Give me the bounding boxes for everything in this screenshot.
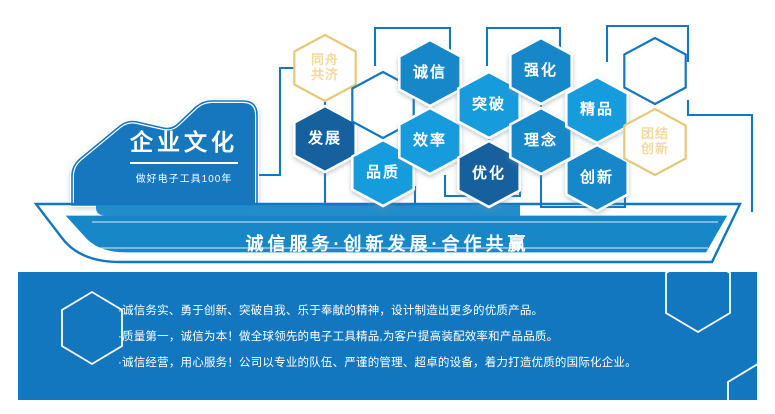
hexagon-chuangxin xyxy=(566,145,627,211)
statement-lines: ·诚信务实、勇于创新、突破自我、乐于奉献的精神，设计制造出更多的优质产品。·质量… xyxy=(118,298,738,376)
hexagon-tuanjie-chuangxin xyxy=(624,109,685,175)
hexagon-jingpin xyxy=(566,77,627,143)
culture-wall-graphic: 企业文化 做好电子工具100年 诚信服务·创新发展·合作共赢 同舟 共济发展品质… xyxy=(0,0,775,414)
hexagon-fazhan xyxy=(294,106,355,172)
statement-line: ·质量第一，诚信为本！做全球领先的电子工具精品,为客户提高装配效率和产品品质。 xyxy=(118,324,738,350)
company-culture-plaque xyxy=(72,101,257,205)
hull-ribbon xyxy=(36,204,740,262)
hexagon-empty-right xyxy=(624,38,685,104)
hexagon-tongzhou-gongji xyxy=(294,35,355,101)
statement-line: ·诚信务实、勇于创新、突破自我、乐于奉献的精神，设计制造出更多的优质产品。 xyxy=(118,298,738,324)
hexagon-cluster xyxy=(294,35,685,211)
statement-panel: ·诚信务实、勇于创新、突破自我、乐于奉献的精神，设计制造出更多的优质产品。·质量… xyxy=(18,272,757,400)
statement-line: ·诚信经营，用心服务！公司以专业的队伍、严谨的管理、超卓的设备，着力打造优质的国… xyxy=(118,350,738,376)
